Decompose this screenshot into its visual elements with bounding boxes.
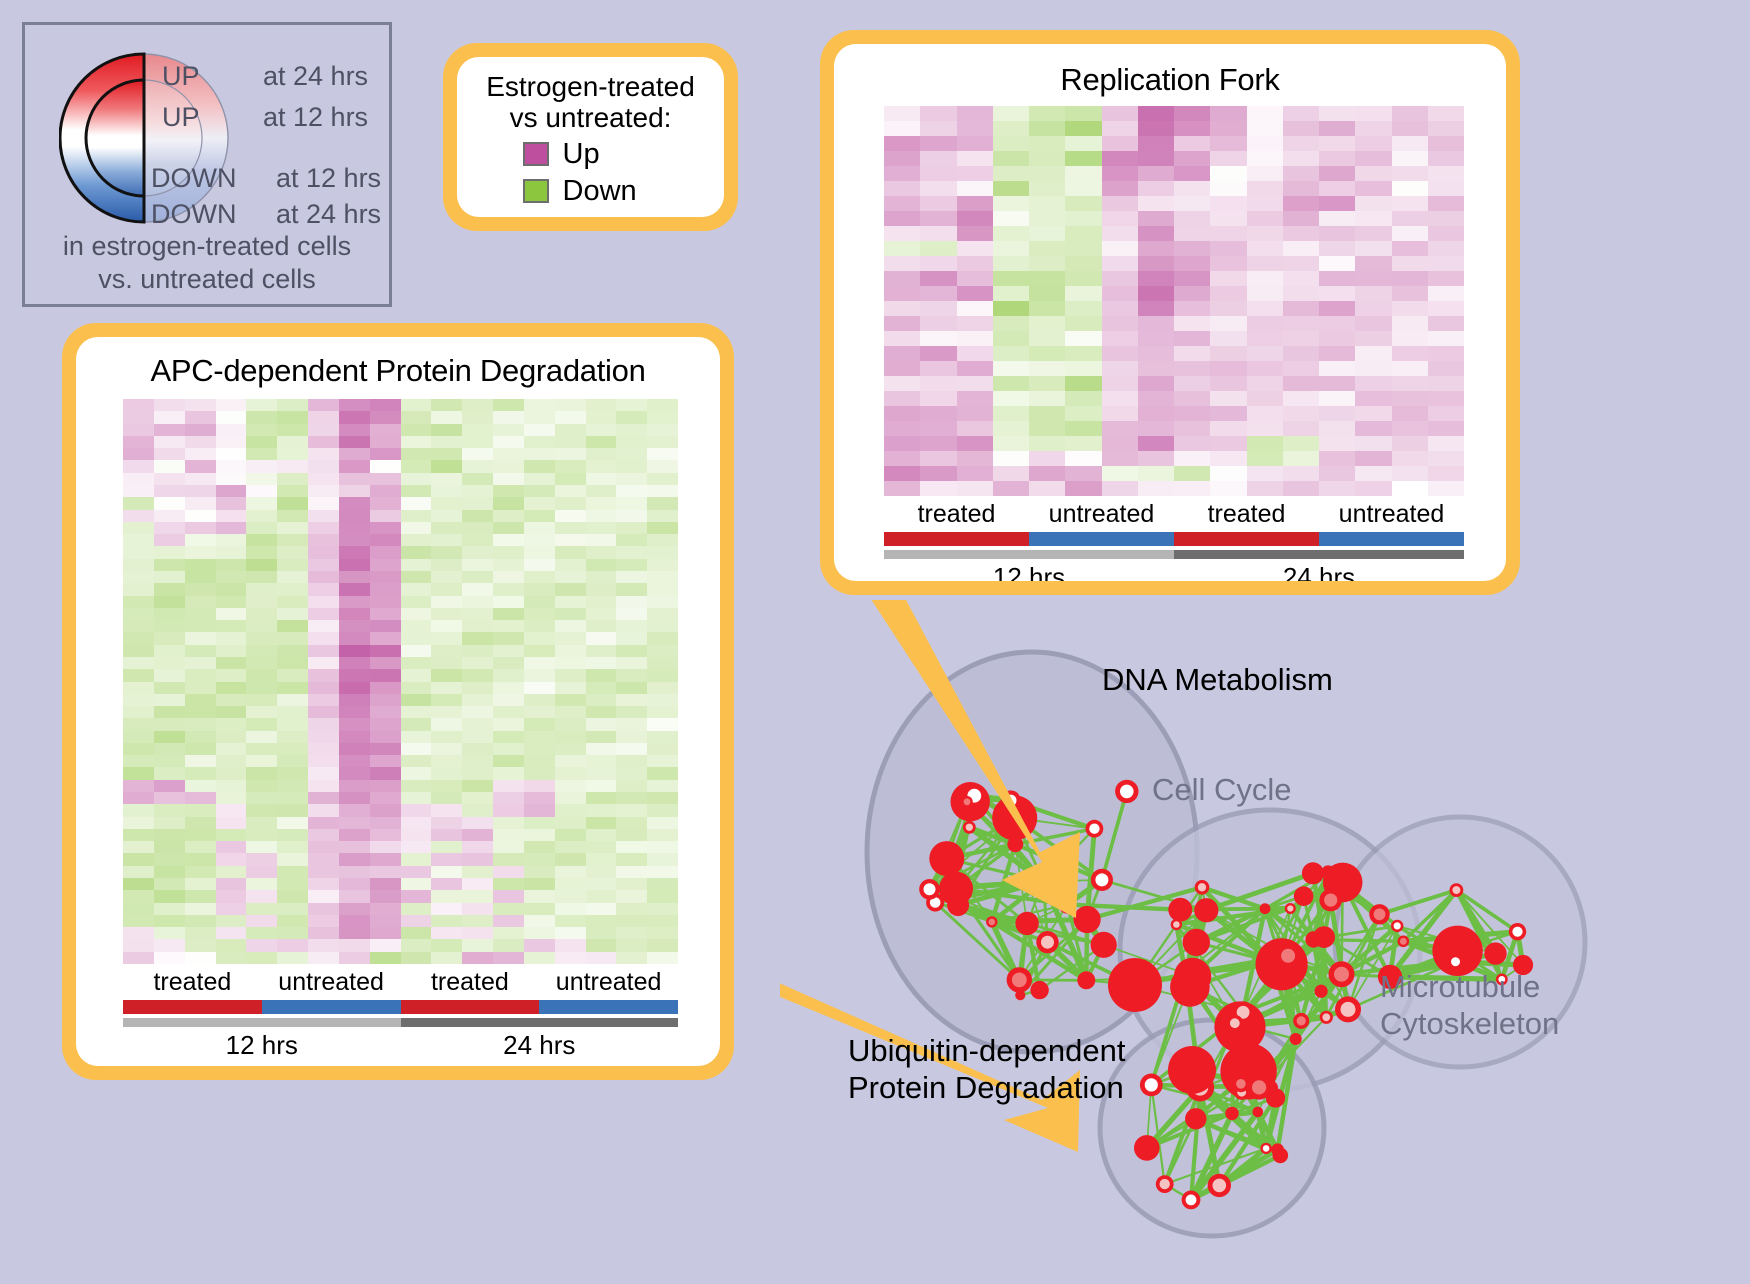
network-node-core [924,883,936,895]
network-node[interactable] [1194,898,1218,922]
key-when-down-12: at 12 hrs [276,163,381,194]
condition-swatch [401,1000,540,1014]
network-node-core [1089,824,1099,834]
network-node[interactable] [929,841,964,876]
network-node-core [1334,967,1349,982]
condition-label: untreated [1029,500,1174,529]
condition-label: treated [123,968,262,997]
network-node[interactable] [1015,912,1038,935]
figure-canvas: UP at 24 hrs UP at 12 hrs DOWN at 12 hrs… [0,0,1750,1279]
pathway-network-diagram: DNA Metabolism Cell Cycle Microtubule Cy… [780,600,1750,1279]
network-node[interactable] [1030,981,1048,999]
network-node[interactable] [1134,1135,1160,1161]
network-node[interactable] [1315,985,1328,998]
condition-bar-apc-degradation [123,1000,678,1014]
time-labels-replication-fork: 12 hrs24 hrs [884,562,1464,581]
condition-label: treated [1174,500,1319,529]
network-node[interactable] [1185,1108,1206,1129]
condition-label: treated [401,968,540,997]
condition-swatch [1174,532,1319,546]
time-label: 24 hrs [401,1030,679,1061]
cluster-label-dna-metabolism: DNA Metabolism [1102,662,1333,698]
network-node[interactable] [1290,1033,1302,1045]
network-svg [780,600,1750,1279]
network-node-core [1186,1195,1197,1206]
condition-bar-replication-fork [884,532,1464,546]
condition-label: treated [884,500,1029,529]
time-swatch [1174,550,1464,559]
network-node-core [1394,922,1401,929]
network-node-core [989,919,996,926]
network-node-core [1451,957,1460,966]
key-tag-down-24: DOWN [151,199,236,230]
legend-title: Estrogen-treated vs untreated: [467,71,714,134]
condition-swatch [123,1000,262,1014]
panel-title-apc-degradation: APC-dependent Protein Degradation [76,353,720,389]
heatmap-replication-fork [884,106,1464,496]
network-node[interactable] [1484,942,1506,964]
network-node[interactable] [1091,932,1117,958]
network-node-core [1041,936,1054,949]
network-node-core [1173,921,1180,928]
network-node-core [1236,1079,1246,1089]
color-key-box: UP at 24 hrs UP at 12 hrs DOWN at 12 hrs… [22,22,392,307]
legend-title-line-2: vs untreated: [467,102,714,133]
network-node[interactable] [1271,1143,1284,1156]
network-node-core [1322,1013,1330,1021]
network-node-core [1252,1080,1266,1094]
network-node[interactable] [1077,971,1095,989]
network-node[interactable] [1183,929,1210,956]
cluster-label-cell-cycle: Cell Cycle [1152,772,1292,808]
network-node-core [964,798,971,805]
network-node[interactable] [1294,886,1314,906]
panel-apc-degradation: APC-dependent Protein Degradation treate… [62,323,734,1080]
condition-swatch [539,1000,678,1014]
network-node[interactable] [1253,1107,1264,1118]
condition-label: untreated [1319,500,1464,529]
network-node-core [1297,1016,1306,1025]
time-bar-apc-degradation [123,1018,678,1027]
panel-replication-fork-inner: Replication Fork treateduntreatedtreated… [834,44,1506,581]
legend-swatch-up [523,142,549,166]
network-node-core [1120,785,1134,799]
time-label: 12 hrs [123,1030,401,1061]
condition-label: untreated [262,968,401,997]
time-swatch [123,1018,401,1027]
network-node-core [1263,1145,1270,1152]
condition-swatch [884,532,1029,546]
network-node[interactable] [1074,906,1101,933]
legend-label-up: Up [563,138,659,171]
network-node-core [1400,938,1407,945]
network-node-core [1287,905,1293,911]
time-label: 12 hrs [884,562,1174,581]
condition-label: untreated [539,968,678,997]
key-footer-line-2: vs. untreated cells [25,263,389,296]
panel-title-replication-fork: Replication Fork [834,62,1506,98]
network-node-core [1324,894,1337,907]
network-node[interactable] [1168,1046,1216,1094]
heatmap-apc-degradation [123,399,678,964]
key-footer-line-1: in estrogen-treated cells [25,230,389,263]
network-node-core [1095,873,1108,886]
condition-labels-replication-fork: treateduntreatedtreateduntreated [884,500,1464,529]
network-node[interactable] [1260,903,1271,914]
network-node[interactable] [1260,950,1282,972]
network-node-core [966,824,973,831]
key-when-up-12: at 12 hrs [263,102,368,133]
network-node-core [1160,1179,1170,1189]
network-node-core [1512,927,1522,937]
condition-swatch [1029,532,1174,546]
network-node-core [1012,973,1027,988]
network-edge [1324,937,1326,1017]
network-node-core [1145,1078,1158,1091]
network-node[interactable] [947,894,969,916]
network-node[interactable] [1007,836,1023,852]
panel-replication-fork: Replication Fork treateduntreatedtreated… [820,30,1520,595]
legend-title-line-1: Estrogen-treated [467,71,714,102]
network-node-core [1230,1018,1240,1028]
network-node[interactable] [1313,926,1335,948]
heatmap-grid-apc-degradation [123,399,678,964]
network-node-core [1213,1179,1227,1193]
network-node[interactable] [1225,1107,1238,1120]
condition-swatch [1319,532,1464,546]
heatmap-legend-panel: Estrogen-treated vs untreated: Up Down [443,43,738,231]
network-node-core [1281,949,1295,963]
key-tag-up-12: UP [162,102,200,133]
condition-swatch [262,1000,401,1014]
key-tag-down-12: DOWN [151,163,236,194]
cluster-label-microtubule-cytoskeleton: Microtubule Cytoskeleton [1380,968,1559,1042]
legend-label-down: Down [563,175,659,208]
color-key-footer: in estrogen-treated cells vs. untreated … [25,230,389,296]
network-node[interactable] [1015,990,1025,1000]
key-tag-up-24: UP [162,61,200,92]
network-node[interactable] [1178,967,1192,981]
heatmap-legend-inner: Estrogen-treated vs untreated: Up Down [457,57,724,217]
heatmap-grid-replication-fork [884,106,1464,496]
network-node[interactable] [1108,958,1162,1012]
time-label: 24 hrs [1174,562,1464,581]
time-swatch [401,1018,679,1027]
network-node[interactable] [1302,862,1324,884]
legend-item-up: Up [467,138,714,171]
network-node[interactable] [1168,898,1192,922]
key-when-down-24: at 24 hrs [276,199,381,230]
time-labels-apc-degradation: 12 hrs24 hrs [123,1030,678,1061]
legend-item-down: Down [467,175,714,208]
panel-apc-degradation-inner: APC-dependent Protein Degradation treate… [76,337,720,1066]
time-bar-replication-fork [884,550,1464,559]
cluster-label-ubiquitin-degradation: Ubiquitin-dependent Protein Degradation [848,1032,1126,1106]
network-node-core [1198,883,1206,891]
network-node-core [1374,908,1386,920]
condition-labels-apc-degradation: treateduntreatedtreateduntreated [123,968,678,997]
network-node-core [1452,886,1460,894]
key-when-up-24: at 24 hrs [263,61,368,92]
time-swatch [884,550,1174,559]
network-node-core [1341,1002,1356,1017]
legend-swatch-down [523,179,549,203]
